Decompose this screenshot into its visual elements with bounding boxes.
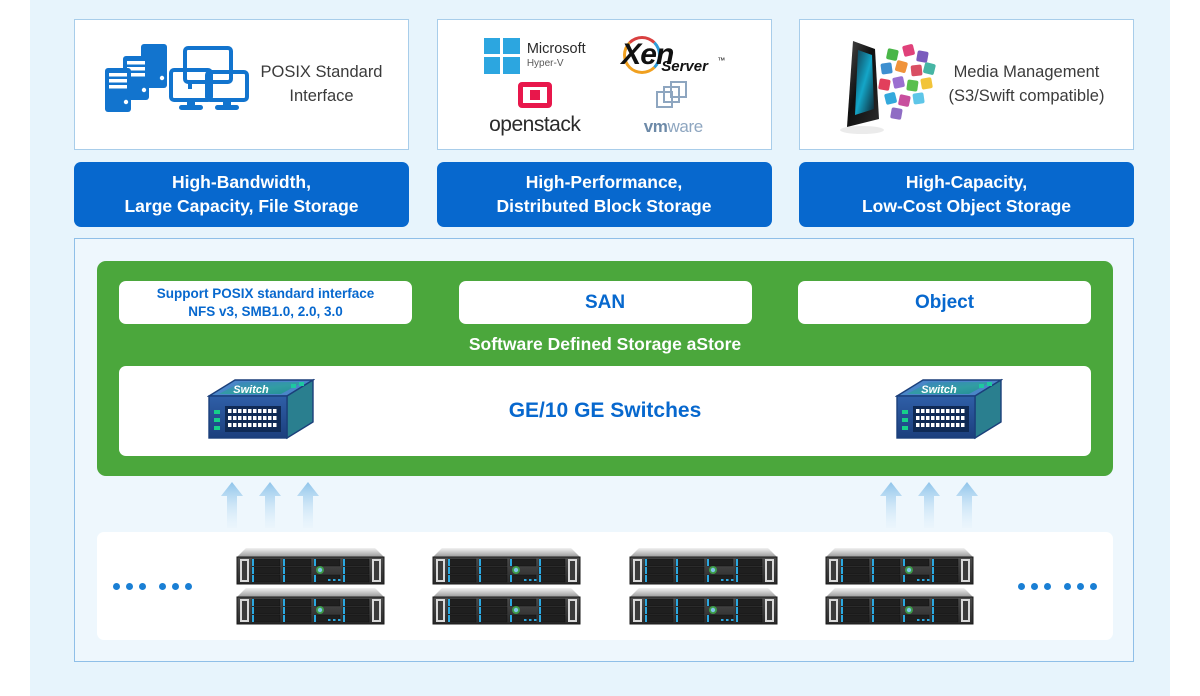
server-rack-icon [232,588,389,625]
server-rack-icon [625,548,782,585]
media-card-label-line2: (S3/Swift compatible) [949,85,1105,109]
xen-trademark: ™ [717,56,725,65]
server-nodes-panel [97,532,1113,640]
vmware-label: vmware [644,117,703,137]
arrow-group-left [221,482,319,528]
diagram-canvas: POSIX Standard Interface Microsoft Hyper… [0,0,1200,696]
sds-chip-posix-line1: Support POSIX standard interface [157,285,375,303]
up-arrow-icon [956,482,978,528]
sds-chip-san: SAN [459,281,752,324]
sds-chip-object: Object [798,281,1091,324]
posix-interface-card: POSIX Standard Interface [74,19,409,150]
sds-chip-posix: Support POSIX standard interface NFS v3,… [119,281,412,324]
openstack-mark-icon [518,82,552,108]
server-rack-icon [232,548,389,585]
server-rack-column-3 [625,548,782,625]
server-rack-column-1 [232,548,389,625]
upward-arrows-band [75,482,1133,530]
network-switch-icon-left: Switch [207,378,315,444]
vmware-logo-slot: vmware [644,81,703,137]
sds-chip-posix-line2: NFS v3, SMB1.0, 2.0, 3.0 [157,303,375,321]
vmware-mark-icon [656,81,690,111]
virtualization-logos-card: Microsoft Hyper-V Xen Server ™ [437,19,772,150]
dot-group [1064,583,1097,590]
banner-object-storage-line1: High-Capacity, [862,171,1071,195]
media-card-label: Media Management (S3/Swift compatible) [949,61,1105,109]
server-rack-column-4 [821,548,978,625]
storage-banner-row: High-Bandwidth, Large Capacity, File Sto… [74,162,1134,227]
server-rack-icon [428,588,585,625]
posix-card-label-line1: POSIX Standard [261,61,383,85]
up-arrow-icon [880,482,902,528]
vmware-logo: vmware [644,81,703,137]
ellipsis-dots-right [1018,583,1097,590]
banner-block-storage-line2: Distributed Block Storage [497,195,712,219]
openstack-logo: openstack [489,82,580,137]
arrow-group-right [880,482,978,528]
server-rack-column-2 [428,548,585,625]
xen-server-logo: Xen Server ™ [621,34,725,78]
openstack-label: openstack [489,113,580,137]
media-card-label-line1: Media Management [949,61,1105,85]
banner-block-storage: High-Performance, Distributed Block Stor… [437,162,772,227]
banner-file-storage: High-Bandwidth, Large Capacity, File Sto… [74,162,409,227]
posix-card-label: POSIX Standard Interface [261,61,383,109]
up-arrow-icon [918,482,940,528]
switch-icon-text: Switch [233,384,269,396]
microsoft-label: Microsoft [527,42,586,58]
svg-text:Switch: Switch [921,384,957,396]
banner-file-storage-line2: Large Capacity, File Storage [124,195,358,219]
banner-object-storage: High-Capacity, Low-Cost Object Storage [799,162,1134,227]
media-management-card: Media Management (S3/Swift compatible) [799,19,1134,150]
hyperv-label: Hyper-V [527,58,586,69]
top-card-row: POSIX Standard Interface Microsoft Hyper… [74,19,1134,150]
posix-card-label-line2: Interface [261,85,383,109]
xen-server-label: Server [661,58,708,75]
hyperv-logo-slot: Microsoft Hyper-V [484,38,586,74]
server-rack-icon [625,588,782,625]
ellipsis-dots-left [113,583,192,590]
server-rack-icon [428,548,585,585]
server-rack-icon [821,548,978,585]
virtualization-logo-grid: Microsoft Hyper-V Xen Server ™ [438,20,771,149]
tablet-with-app-icons-icon [829,33,939,137]
infrastructure-frame: Support POSIX standard interface NFS v3,… [74,238,1134,662]
network-switch-icon-right: Switch [895,378,1003,444]
up-arrow-icon [221,482,243,528]
software-defined-storage-box: Support POSIX standard interface NFS v3,… [97,261,1113,476]
banner-block-storage-line1: High-Performance, [497,171,712,195]
microsoft-hyperv-logo: Microsoft Hyper-V [484,38,586,74]
banner-object-storage-line2: Low-Cost Object Storage [862,195,1071,219]
up-arrow-icon [297,482,319,528]
sds-protocol-chip-row: Support POSIX standard interface NFS v3,… [119,281,1091,324]
switch-bar-label: GE/10 GE Switches [509,399,702,423]
switch-bar: Switch [119,366,1091,456]
up-arrow-icon [259,482,281,528]
xen-logo-slot: Xen Server ™ [621,34,725,78]
windows-squares-icon [484,38,520,74]
sds-title: Software Defined Storage aStore [97,334,1113,355]
server-rack-icon [821,588,978,625]
openstack-logo-slot: openstack [489,82,580,137]
dot-group [1018,583,1051,590]
dot-group [159,583,192,590]
dot-group [113,583,146,590]
banner-file-storage-line1: High-Bandwidth, [124,171,358,195]
servers-and-monitors-icon [101,42,251,128]
